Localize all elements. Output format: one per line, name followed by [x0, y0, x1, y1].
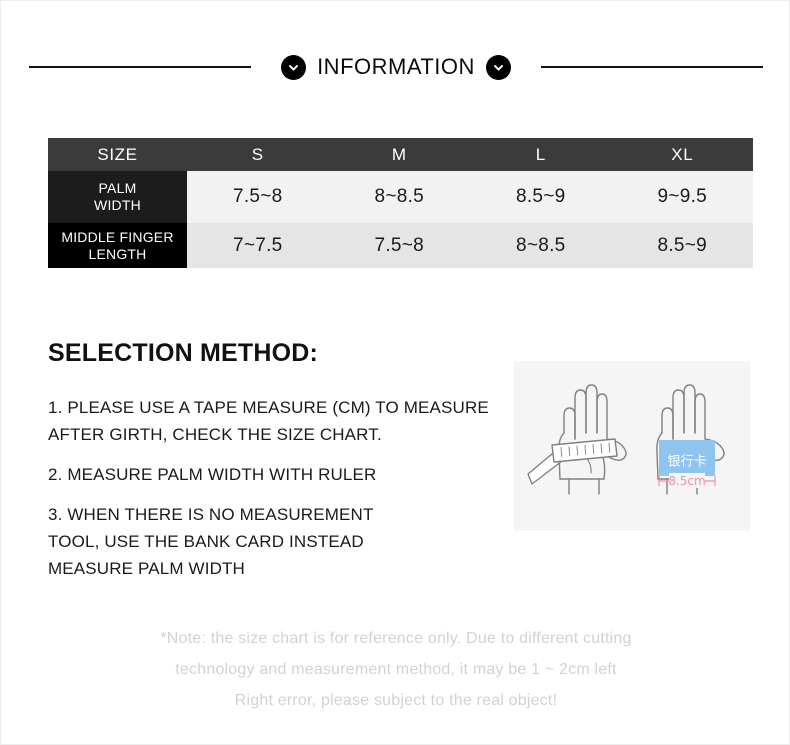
footer-note-line-3: Right error, please subject to the real … [1, 685, 790, 716]
header-divider-left [29, 66, 251, 68]
cell-middle-finger-xl: 8.5~9 [612, 223, 754, 268]
column-header-l: L [470, 138, 612, 171]
selection-step-2: 2. MEASURE PALM WIDTH WITH RULER [48, 461, 518, 488]
row-header-line-1: PALM [48, 180, 187, 197]
cell-middle-finger-m: 7.5~8 [329, 223, 471, 268]
selection-step-3: 3. WHEN THERE IS NO MEASUREMENT TOOL, US… [48, 501, 518, 582]
cell-palm-width-l: 8.5~9 [470, 171, 612, 223]
column-header-m: M [329, 138, 471, 171]
column-header-size: SIZE [48, 138, 187, 171]
page-title: INFORMATION [317, 54, 475, 80]
footer-disclaimer: *Note: the size chart is for reference o… [1, 623, 790, 716]
footer-note-line-1: *Note: the size chart is for reference o… [1, 623, 790, 654]
row-header-line-1: MIDDLE FINGER [48, 229, 187, 246]
column-header-xl: XL [612, 138, 754, 171]
row-header-palm-width: PALM WIDTH [48, 171, 187, 223]
row-header-middle-finger-length: MIDDLE FINGER LENGTH [48, 223, 187, 268]
table-row-middle-finger-length: MIDDLE FINGER LENGTH 7~7.5 7.5~8 8~8.5 8… [48, 223, 753, 268]
cell-palm-width-s: 7.5~8 [187, 171, 329, 223]
footer-note-line-2: technology and measurement method, it ma… [1, 654, 790, 685]
selection-step-1: 1. PLEASE USE A TAPE MEASURE (CM) TO MEA… [48, 394, 518, 448]
selection-method-steps: 1. PLEASE USE A TAPE MEASURE (CM) TO MEA… [48, 394, 518, 582]
information-header: INFORMATION [1, 49, 790, 85]
chevron-down-circle-icon-right [486, 55, 511, 80]
row-header-line-2: LENGTH [48, 246, 187, 263]
cell-palm-width-m: 8~8.5 [329, 171, 471, 223]
cell-middle-finger-l: 8~8.5 [470, 223, 612, 268]
bank-card-label: 银行卡 [667, 455, 706, 470]
table-header-row: SIZE S M L XL [48, 138, 753, 171]
cell-middle-finger-s: 7~7.5 [187, 223, 329, 268]
size-chart-page: INFORMATION SIZE S M L XL PALM [0, 0, 790, 745]
chevron-down-circle-icon-left [281, 55, 306, 80]
header-divider-right [541, 66, 763, 68]
row-header-line-2: WIDTH [48, 197, 187, 214]
measurement-illustration-panel: 银行卡 8.5cm [514, 361, 750, 531]
size-chart-table: SIZE S M L XL PALM WIDTH 7.5~8 8~8.5 8.5… [48, 138, 753, 268]
dimension-label: 8.5cm [668, 474, 705, 488]
table-row-palm-width: PALM WIDTH 7.5~8 8~8.5 8.5~9 9~9.5 [48, 171, 753, 223]
cell-palm-width-xl: 9~9.5 [612, 171, 754, 223]
column-header-s: S [187, 138, 329, 171]
selection-method-title: SELECTION METHOD: [48, 339, 318, 368]
